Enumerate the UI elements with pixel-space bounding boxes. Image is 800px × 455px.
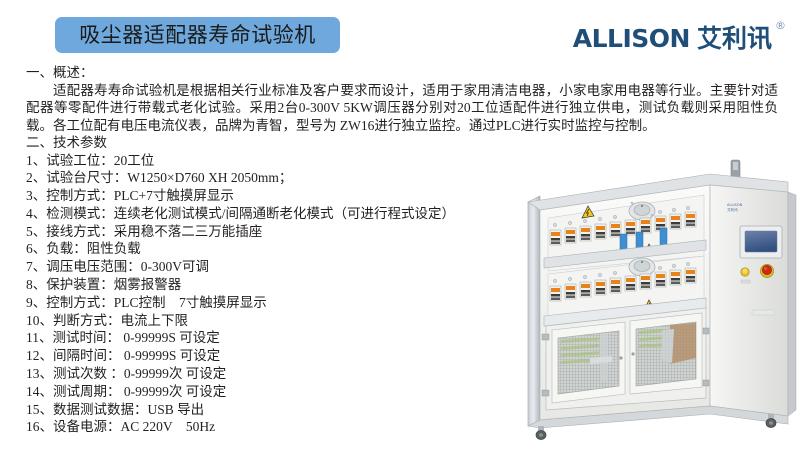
control-column-logo-text: ALLISON	[727, 203, 743, 207]
equipment-photo: ALLISON 艾利讯	[512, 158, 800, 450]
equipment-photo-svg: ALLISON 艾利讯	[512, 158, 800, 450]
logo-chinese-text: 艾利讯	[697, 26, 772, 51]
cabinet-left-frame	[528, 196, 540, 426]
page-title: 吸尘器适配器寿命试验机	[79, 25, 316, 46]
list-item: 5、接线方式：采用稳不落二三万能插座	[26, 223, 496, 241]
list-item: 2、试验台尺寸：W1250×D760 XH 2050mm；	[26, 169, 496, 187]
control-column-logo-cn: 艾利讯	[727, 207, 738, 212]
list-item: 15、数据测试数据：USB 导出	[26, 401, 496, 419]
list-item: 14、测试周期： 0-99999次 可设定	[26, 383, 496, 401]
door-handle-left	[619, 356, 622, 359]
control-column	[710, 185, 788, 416]
page-header: 吸尘器适配器寿命试验机 ALLISON 艾利讯 ®	[0, 0, 800, 62]
technical-parameter-list: 1、试验工位：20工位 2、试验台尺寸：W1250×D760 XH 2050mm…	[26, 152, 496, 437]
list-item: 1、试验工位：20工位	[26, 152, 496, 170]
list-item: 10、判断方式：电流上下限	[26, 312, 496, 330]
resistive-load-cabinet-left[interactable]	[552, 322, 625, 403]
overview-heading: 一、概述：	[26, 64, 778, 82]
page-title-banner: 吸尘器适配器寿命试验机	[55, 17, 340, 53]
list-item: 8、保护装置：烟雾报警器	[26, 276, 496, 294]
company-logo: ALLISON 艾利讯 ®	[573, 26, 786, 51]
resistive-load-cabinet-right[interactable]	[630, 313, 702, 394]
list-item: 3、控制方式：PLC+7寸触摸屏显示	[26, 187, 496, 205]
list-item: 16、设备电源：AC 220V 50Hz	[26, 418, 496, 436]
list-item: 6、负载：阻性负载	[26, 240, 496, 258]
logo-english-text: ALLISON	[573, 26, 690, 51]
list-item: 4、检测模式：连续老化测试模式/间隔通断老化模式（可进行程式设定）	[26, 205, 496, 223]
red-emergency-stop-button[interactable]	[760, 264, 773, 277]
list-item: 13、测试次数 ：0-99999次 可设定	[26, 365, 496, 383]
list-item: 11、测试时间： 0-99999S 可设定	[26, 329, 496, 347]
voltage-regulator-knob-upper[interactable]	[629, 202, 655, 220]
voltage-regulator-knob-lower[interactable]	[629, 258, 655, 276]
hmi-touchscreen[interactable]	[740, 226, 782, 258]
parameters-heading: 二、技术参数	[26, 134, 778, 152]
overview-paragraph: 适配器寿寿命试验机是根据相关行业标准及客户要求而设计，适用于家用清洁电器，小家电…	[26, 82, 778, 135]
list-item: 12、间隔时间： 0-99999S 可设定	[26, 347, 496, 365]
button-label-plate	[741, 280, 750, 283]
registered-trademark-icon: ®	[775, 20, 786, 31]
cabinet-right-edge	[788, 192, 796, 416]
list-item: 7、调压电压范围：0-300V可调	[26, 258, 496, 276]
yellow-start-button[interactable]	[741, 268, 749, 276]
list-item: 9、控制方式：PLC控制 7寸触摸屏显示	[26, 294, 496, 312]
nameplate	[752, 310, 774, 315]
door-handle-right	[631, 352, 634, 355]
